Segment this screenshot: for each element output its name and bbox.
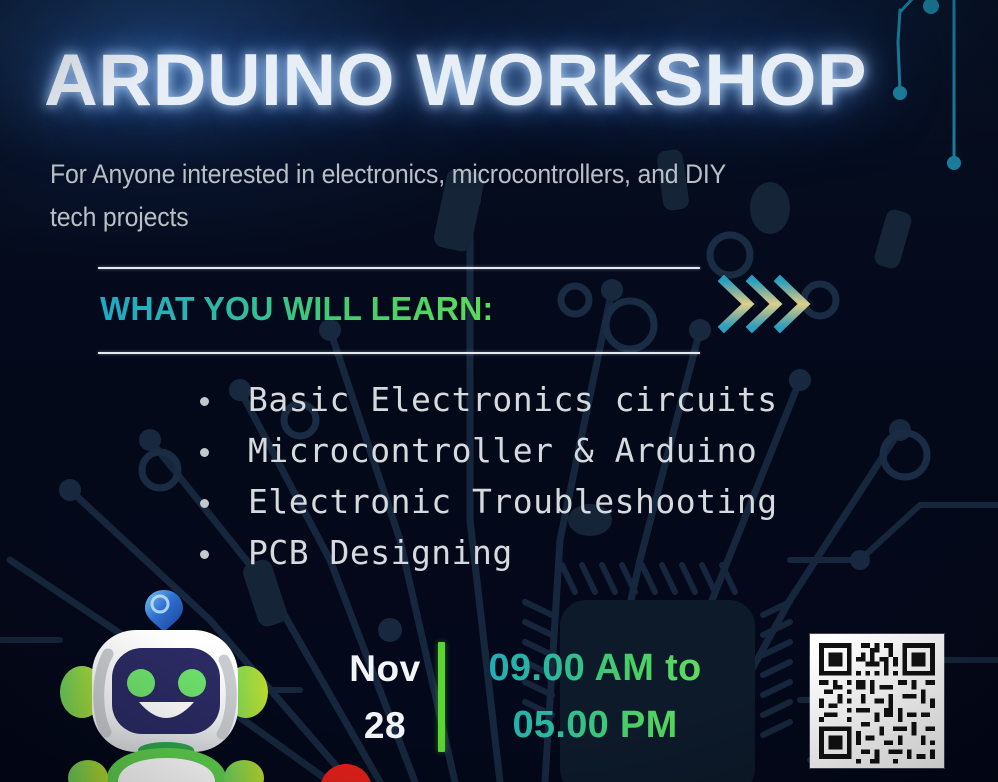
robot-mascot — [44, 582, 294, 782]
divider-top — [98, 267, 700, 269]
chevron-right-icon — [718, 273, 814, 335]
date-time-divider — [438, 642, 445, 752]
event-month: Nov — [330, 640, 440, 697]
subtitle: For Anyone interested in electronics, mi… — [50, 153, 777, 239]
list-item: Electronic Troubleshooting — [196, 476, 778, 527]
list-item: Basic Electronics circuits — [196, 374, 778, 425]
learn-list: Basic Electronics circuits Microcontroll… — [196, 374, 778, 578]
event-day: 28 — [330, 697, 440, 754]
event-date: Nov 28 — [330, 640, 440, 754]
poster-canvas: ARDUINO WORKSHOP For Anyone interested i… — [0, 0, 998, 782]
qr-code[interactable] — [810, 634, 944, 768]
event-time-end: 05.00 PM — [455, 697, 735, 754]
event-time-start: 09.00 AM to — [455, 640, 735, 697]
list-item: Microcontroller & Arduino — [196, 425, 778, 476]
event-time: 09.00 AM to 05.00 PM — [455, 640, 735, 754]
divider-bottom — [98, 352, 700, 354]
page-title: ARDUINO WORKSHOP — [44, 39, 867, 122]
list-item: PCB Designing — [196, 527, 778, 578]
learn-heading: WHAT YOU WILL LEARN: — [100, 290, 493, 328]
